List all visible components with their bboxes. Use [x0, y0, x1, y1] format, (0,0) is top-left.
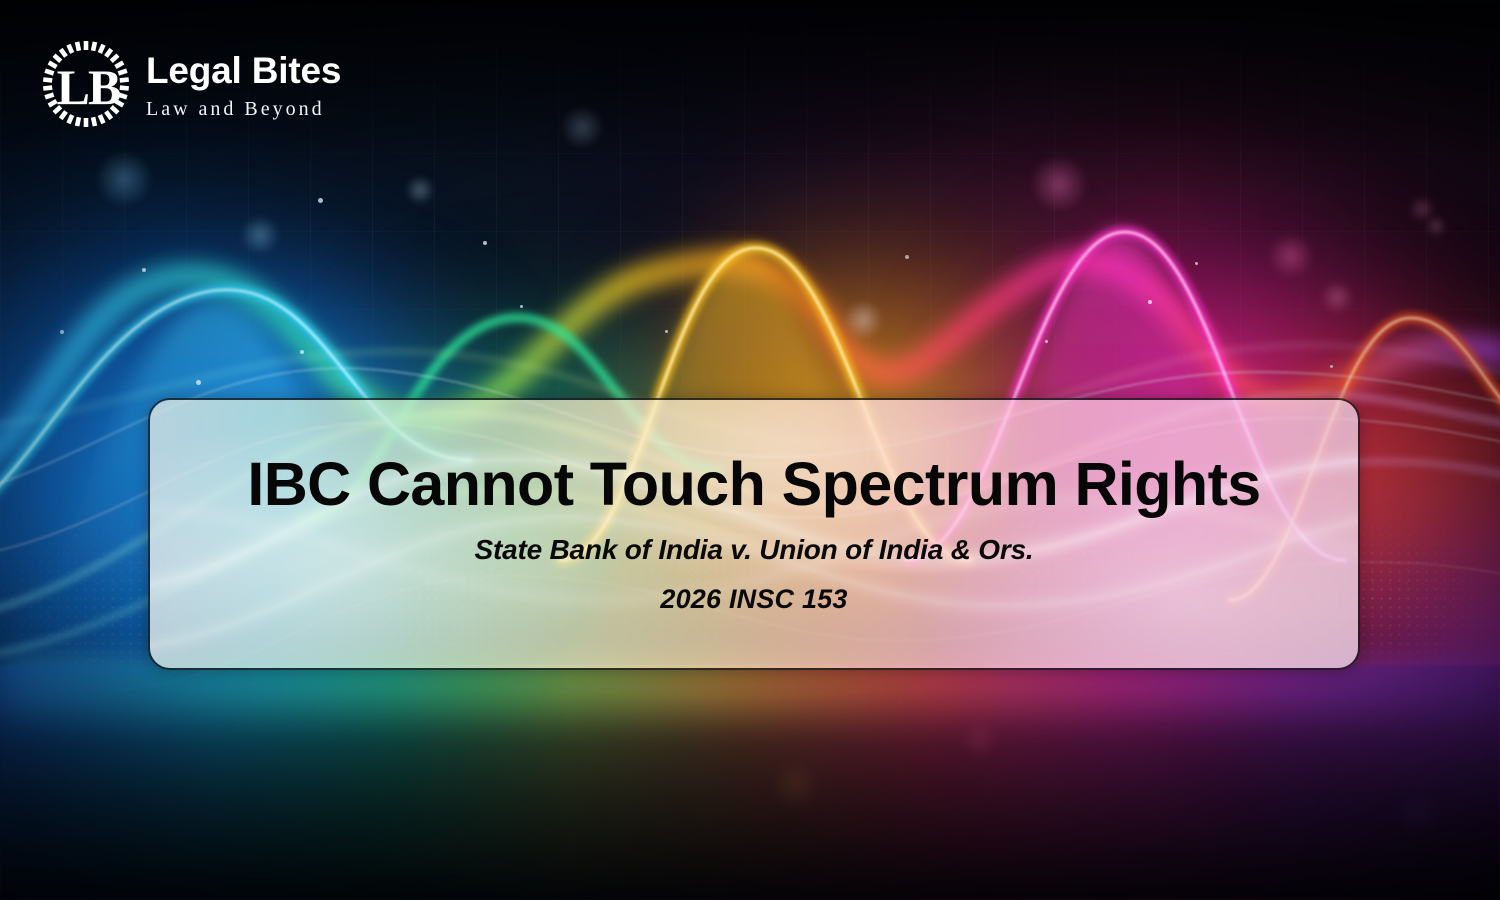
sparkle-point	[142, 268, 146, 272]
sparkle-point	[665, 330, 668, 333]
sparkle-point	[1330, 365, 1333, 368]
sparkle-point	[318, 198, 323, 203]
hero-banner: LB Legal Bites Law and Beyond	[0, 0, 1500, 900]
sparkle-point	[1045, 340, 1048, 343]
bokeh-orb	[1320, 280, 1354, 314]
sparkle-point	[300, 350, 304, 354]
hero-title-card: IBC Cannot Touch Spectrum Rights State B…	[148, 398, 1360, 670]
sparkle-point	[1148, 300, 1152, 304]
sparkle-point	[905, 255, 909, 259]
bokeh-orb	[405, 175, 435, 205]
floor-reflection	[0, 665, 1500, 900]
lb-monogram-icon: LB	[40, 38, 132, 130]
brand-name: Legal Bites	[146, 52, 341, 89]
sparkle-point	[520, 305, 523, 308]
case-citation: 2026 INSC 153	[660, 584, 847, 615]
page-title: IBC Cannot Touch Spectrum Rights	[247, 453, 1260, 515]
bokeh-orb	[95, 150, 153, 208]
bokeh-orb	[1030, 155, 1088, 213]
case-name: State Bank of India v. Union of India & …	[474, 534, 1033, 566]
bokeh-orb	[843, 300, 883, 340]
sparkle-point	[60, 330, 64, 334]
bokeh-orb	[1268, 233, 1314, 279]
sparkle-point	[483, 241, 487, 245]
brand-wordmark: Legal Bites Law and Beyond	[146, 50, 341, 119]
brand-logo[interactable]: LB Legal Bites Law and Beyond	[40, 38, 341, 130]
bokeh-orb	[240, 215, 280, 255]
svg-text:LB: LB	[57, 59, 120, 115]
sparkle-point	[196, 380, 201, 385]
brand-tagline: Law and Beyond	[146, 99, 341, 119]
bokeh-orb	[1425, 215, 1447, 237]
bokeh-orb	[560, 105, 604, 149]
sparkle-point	[1195, 262, 1198, 265]
